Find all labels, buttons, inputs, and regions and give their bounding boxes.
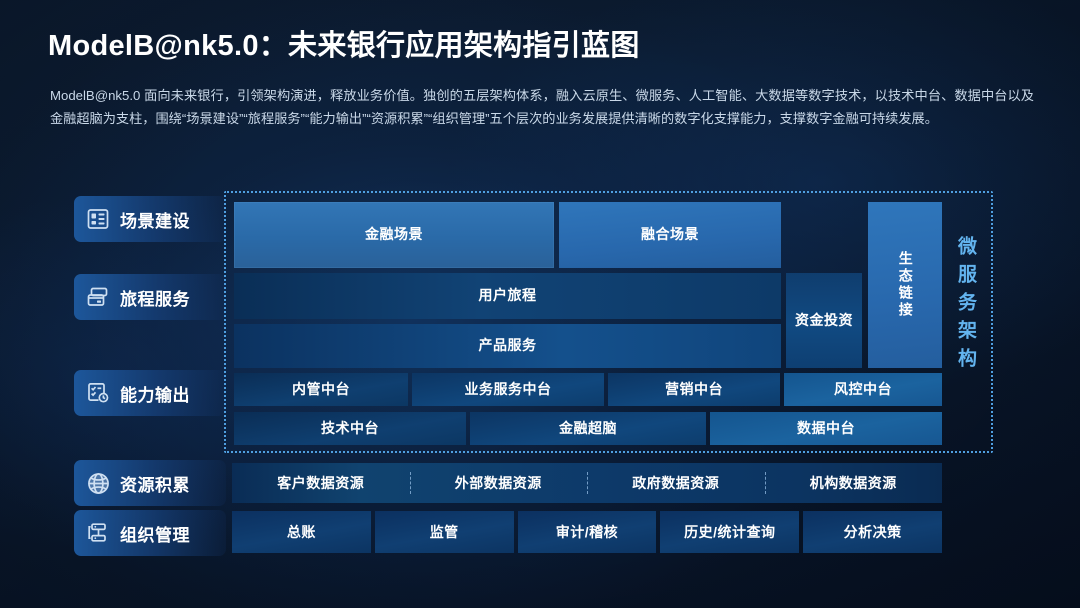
sidebar-item-label: 场景建设 — [120, 207, 190, 232]
block-risk-control-midplatform[interactable]: 风控中台 — [784, 373, 942, 406]
resource-layer-strip: 客户数据资源 外部数据资源 政府数据资源 机构数据资源 — [232, 463, 942, 503]
page-title: ModelB@nk5.0：未来银行应用架构指引蓝图 — [48, 22, 640, 64]
block-label: 用户旅程 — [479, 287, 537, 305]
block-ecosystem-link[interactable]: 生态链接 — [868, 202, 942, 368]
block-label: 生态链接 — [896, 251, 914, 319]
block-data-midplatform[interactable]: 数据中台 — [710, 412, 942, 445]
checklist-clock-icon — [85, 380, 111, 406]
block-financial-superbrain[interactable]: 金融超脑 — [470, 412, 706, 445]
cell-label: 外部数据资源 — [455, 473, 542, 493]
sidebar-item-label: 能力输出 — [120, 381, 190, 406]
block-financial-scene[interactable]: 金融场景 — [234, 202, 554, 268]
organization-cell-ledger[interactable]: 总账 — [232, 511, 371, 553]
cell-label: 总账 — [287, 522, 316, 542]
microservice-architecture-caption: 微服务架构 — [952, 236, 979, 376]
cell-label: 监管 — [430, 522, 459, 542]
resource-cell-customer[interactable]: 客户数据资源 — [232, 463, 410, 503]
globe-icon — [85, 470, 111, 496]
sidebar-item-resource[interactable]: 资源积累 — [74, 460, 226, 506]
block-label: 数据中台 — [797, 420, 855, 438]
block-label: 营销中台 — [665, 381, 723, 399]
org-tree-icon — [85, 520, 111, 546]
sidebar-item-scene[interactable]: 场景建设 — [74, 196, 226, 242]
block-user-journey[interactable]: 用户旅程 — [234, 273, 781, 319]
sidebar-item-capability[interactable]: 能力输出 — [74, 370, 226, 416]
block-label: 融合场景 — [641, 226, 699, 244]
sidebar-item-label: 资源积累 — [120, 471, 190, 496]
organization-cell-regulation[interactable]: 监管 — [375, 511, 514, 553]
block-label: 业务服务中台 — [465, 381, 552, 399]
block-label: 产品服务 — [479, 337, 537, 355]
cell-label: 政府数据资源 — [632, 473, 719, 493]
block-fund-investment[interactable]: 资金投资 — [786, 273, 862, 368]
resource-cell-government[interactable]: 政府数据资源 — [587, 463, 765, 503]
cell-label: 审计/稽核 — [556, 522, 618, 542]
block-technology-midplatform[interactable]: 技术中台 — [234, 412, 466, 445]
layout-grid-icon — [85, 206, 111, 232]
resource-cell-external[interactable]: 外部数据资源 — [410, 463, 588, 503]
organization-cell-analysis-decision[interactable]: 分析决策 — [803, 511, 942, 553]
page-description: ModelB@nk5.0 面向未来银行，引领架构演进，释放业务价值。独创的五层架… — [50, 84, 1034, 130]
block-label: 资金投资 — [795, 312, 853, 330]
block-label: 金融场景 — [365, 226, 423, 244]
block-marketing-midplatform[interactable]: 营销中台 — [608, 373, 780, 406]
block-label: 技术中台 — [321, 420, 379, 438]
block-product-service[interactable]: 产品服务 — [234, 324, 781, 368]
cell-label: 机构数据资源 — [810, 473, 897, 493]
cell-label: 客户数据资源 — [277, 473, 364, 493]
block-integrated-scene[interactable]: 融合场景 — [559, 202, 781, 268]
resource-cell-institution[interactable]: 机构数据资源 — [765, 463, 943, 503]
sidebar-item-journey[interactable]: 旅程服务 — [74, 274, 226, 320]
organization-cell-history-query[interactable]: 历史/统计查询 — [660, 511, 799, 553]
sidebar-item-label: 组织管理 — [120, 521, 190, 546]
sidebar-item-label: 旅程服务 — [120, 285, 190, 310]
sidebar-item-organization[interactable]: 组织管理 — [74, 510, 226, 556]
cell-label: 历史/统计查询 — [684, 522, 775, 542]
block-internal-midplatform[interactable]: 内管中台 — [234, 373, 408, 406]
block-label: 金融超脑 — [559, 420, 617, 438]
cards-icon — [85, 284, 111, 310]
block-label: 内管中台 — [292, 381, 350, 399]
slide-canvas: ModelB@nk5.0：未来银行应用架构指引蓝图 ModelB@nk5.0 面… — [0, 0, 1080, 608]
organization-cell-audit[interactable]: 审计/稽核 — [518, 511, 657, 553]
block-label: 风控中台 — [834, 381, 892, 399]
cell-label: 分析决策 — [844, 522, 902, 542]
organization-layer-strip: 总账 监管 审计/稽核 历史/统计查询 分析决策 — [232, 511, 942, 553]
block-business-service-midplatform[interactable]: 业务服务中台 — [412, 373, 604, 406]
